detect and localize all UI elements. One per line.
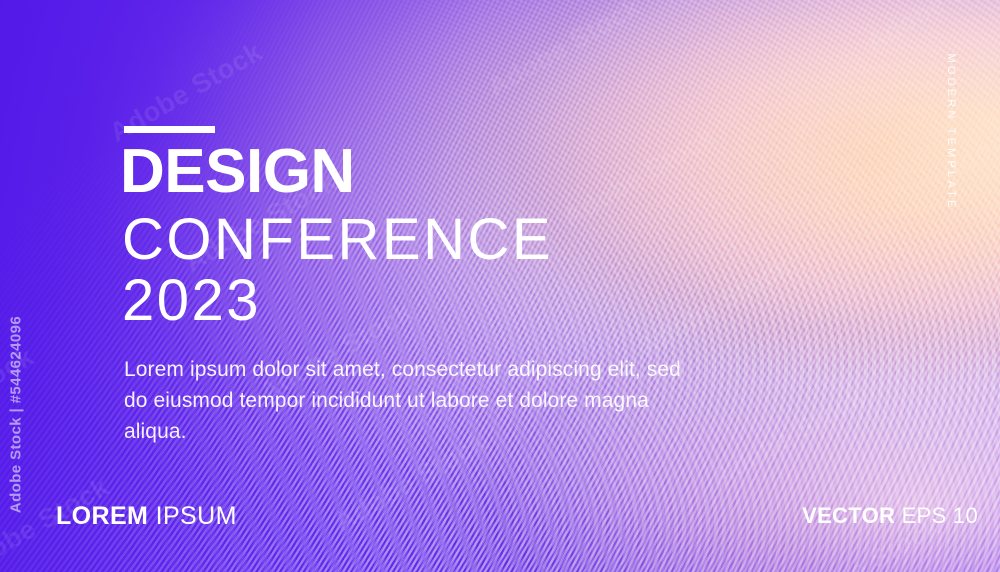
poster-canvas: Adobe Stock Adobe Stock Adobe Stock Adob… [0,0,1000,572]
brand-lockup-bottom-left: LOREM IPSUM [56,504,237,529]
poster-content: DESIGN CONFERENCE 2023 Lorem ipsum dolor… [0,0,1000,572]
format-label-light: EPS 10 [895,503,978,528]
body-copy: Lorem ipsum dolor sit amet, consectetur … [124,355,704,448]
brand-name-light: IPSUM [148,502,237,530]
title-rule-icon [124,126,215,133]
format-label-strong: VECTOR [802,503,895,528]
page-title-primary: DESIGN [120,141,355,203]
side-label-modern-template: MODERN TEMPLATE [945,27,957,237]
page-title-year: 2023 [122,272,261,330]
stock-credit-label: Adobe Stock | #544624096 [8,285,25,545]
brand-name-strong: LOREM [56,502,148,530]
format-lockup-bottom-right: VECTOR EPS 10 [802,505,978,527]
page-title-secondary: CONFERENCE [122,211,553,269]
